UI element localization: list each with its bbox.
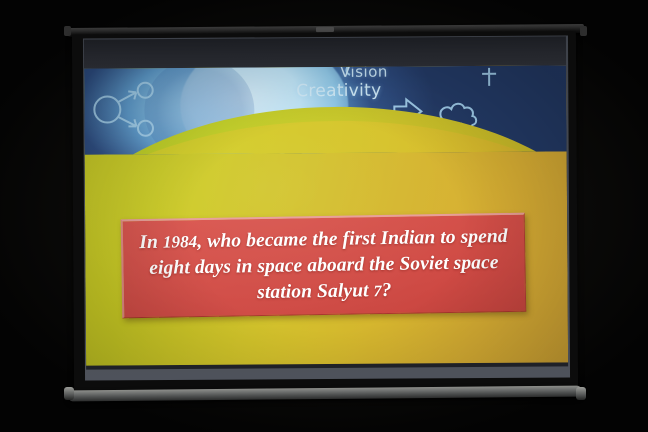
weight-bar-cap-left (64, 387, 74, 400)
question-text: In 1984, who became the first Indian to … (129, 224, 519, 309)
projected-image-area: Vision Creativity In 1984, who became th… (84, 36, 568, 369)
projector-screen-assembly: Vision Creativity In 1984, who became th… (62, 26, 586, 396)
question-line-3-prefix: station Salyut (257, 280, 374, 303)
question-text-box: In 1984, who became the first Indian to … (121, 213, 527, 319)
question-year: 1984 (163, 232, 198, 252)
mounting-bar-end-right (580, 26, 587, 36)
circle-small-icon (138, 121, 153, 136)
banner-word-creativity: Creativity (296, 81, 381, 102)
question-line-1-rest: , who became the first Indian to spend (197, 226, 508, 252)
presentation-slide: Vision Creativity In 1984, who became th… (84, 65, 568, 365)
mounting-bar-bracket (316, 27, 334, 32)
question-line-2: eight days in space aboard the Soviet sp… (149, 252, 499, 279)
question-line-1-prefix: In (139, 231, 163, 252)
question-station-number: 7 (373, 283, 381, 300)
question-line-3-suffix: ? (381, 280, 391, 301)
projection-letterbox-band (84, 36, 566, 68)
weight-bar-cap-right (576, 387, 586, 400)
circle-arrow-icon (94, 96, 120, 122)
mounting-bar-end-left (64, 26, 71, 36)
plus-doodle-icon (482, 68, 496, 86)
circle-arrow-small-icon (138, 83, 153, 98)
projector-room-photo: Vision Creativity In 1984, who became th… (0, 0, 648, 432)
banner-word-vision: Vision (340, 65, 388, 81)
creativity-lightbulb-banner: Vision Creativity (84, 65, 567, 154)
